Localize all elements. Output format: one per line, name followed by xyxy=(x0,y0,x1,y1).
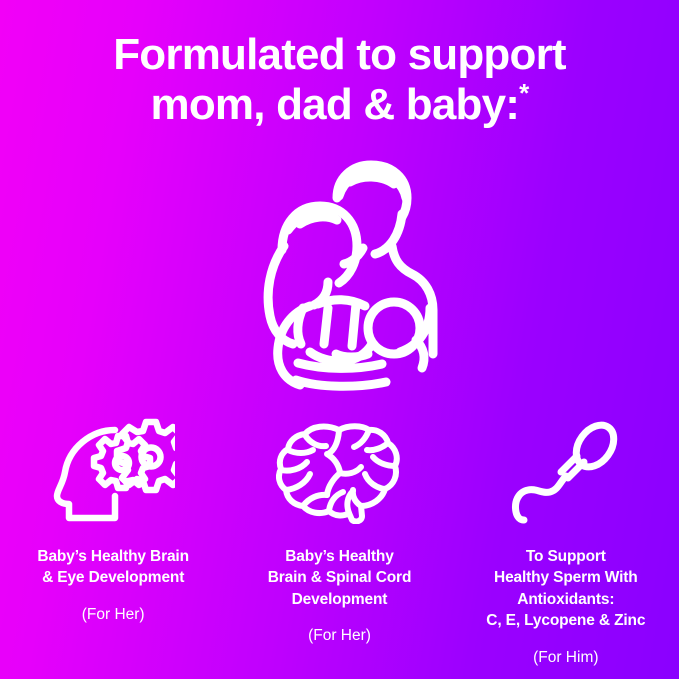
benefit-audience-1: (For Her) xyxy=(8,604,218,625)
benefit-column-1: Baby’s Healthy Brain & Eye Development (… xyxy=(0,546,226,625)
benefit-icon-cell-3 xyxy=(453,412,679,532)
headline-block: Formulated to support mom, dad & baby:* xyxy=(0,30,679,130)
benefit-icon-cell-1 xyxy=(0,412,226,532)
benefit-title-1: Baby’s Healthy Brain & Eye Development xyxy=(8,546,218,589)
benefit-audience-3: (For Him) xyxy=(461,647,671,668)
headline-line-2-wrap: mom, dad & baby:* xyxy=(113,80,566,130)
product-feature-panel: { "headline": { "line1": "Formulated to … xyxy=(0,0,679,679)
page-title: Formulated to support mom, dad & baby:* xyxy=(113,30,566,130)
brain-icon xyxy=(276,420,402,524)
benefit-title-3: To Support Healthy Sperm With Antioxidan… xyxy=(461,546,671,632)
benefit-title-2: Baby’s Healthy Brain & Spinal Cord Devel… xyxy=(234,546,444,610)
sperm-icon xyxy=(506,420,626,524)
head-with-gears-icon xyxy=(51,418,175,526)
benefit-icon-row xyxy=(0,412,679,532)
benefit-icon-cell-2 xyxy=(226,412,452,532)
headline-line-1: Formulated to support xyxy=(113,30,566,80)
benefit-column-3: To Support Healthy Sperm With Antioxidan… xyxy=(453,546,679,668)
asterisk-marker: * xyxy=(519,78,528,108)
benefit-audience-2: (For Her) xyxy=(234,625,444,646)
benefit-column-2: Baby’s Healthy Brain & Spinal Cord Devel… xyxy=(226,546,452,647)
benefit-text-row: Baby’s Healthy Brain & Eye Development (… xyxy=(0,546,679,668)
headline-line-2: mom, dad & baby: xyxy=(151,80,520,129)
family-mom-dad-baby-icon xyxy=(240,158,440,393)
